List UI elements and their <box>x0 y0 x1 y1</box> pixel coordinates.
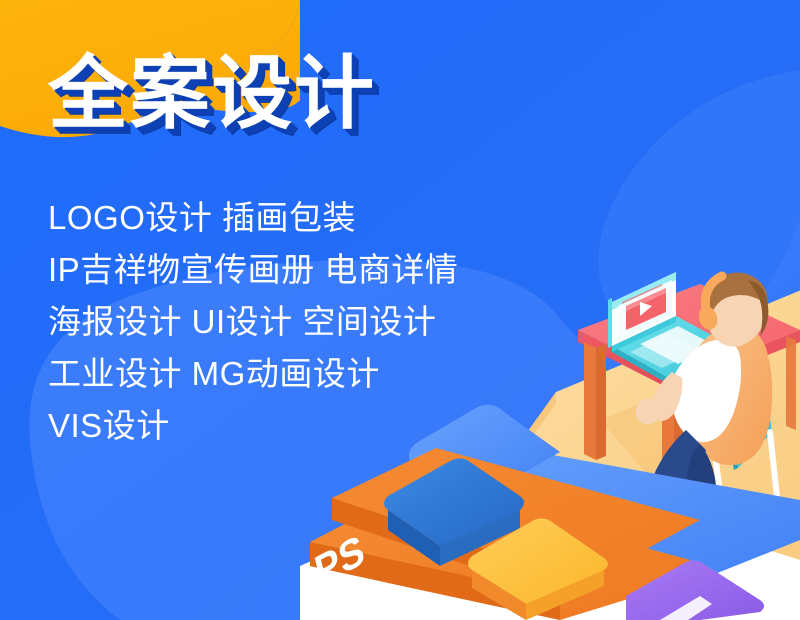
service-item-2: IP吉祥物宣传画册 电商详情 <box>48 244 458 296</box>
poster-canvas: PS AI 全案设计 LOGO设计 插画包装 IP吉 <box>0 0 800 620</box>
service-item-1: LOGO设计 插画包装 <box>48 192 458 244</box>
service-item-3: 海报设计 UI设计 空间设计 <box>48 296 458 348</box>
service-item-5: VIS设计 <box>48 400 458 452</box>
title-block: 全案设计 <box>48 52 376 136</box>
service-item-4: 工业设计 MG动画设计 <box>48 348 458 400</box>
page-title: 全案设计 <box>48 52 376 136</box>
service-list: LOGO设计 插画包装 IP吉祥物宣传画册 电商详情 海报设计 UI设计 空间设… <box>48 192 458 452</box>
